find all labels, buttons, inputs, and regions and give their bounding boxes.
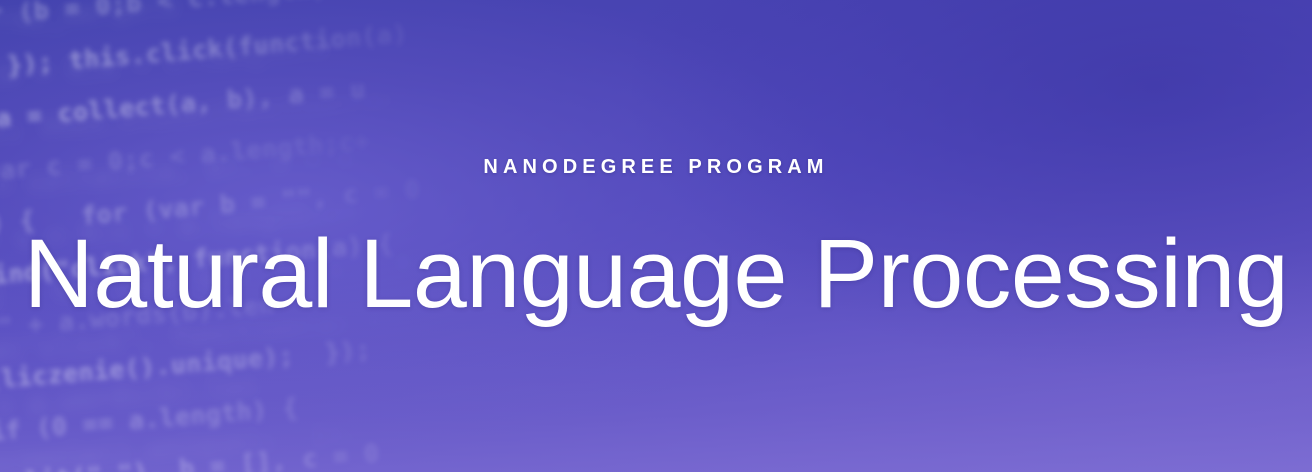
- hero-content: NANODEGREE PROGRAM Natural Language Proc…: [0, 0, 1312, 472]
- page-title: Natural Language Processing: [24, 225, 1289, 322]
- nanodegree-hero-banner: ); c = array_merge(a "", for (b = 0;b < …: [0, 0, 1312, 472]
- program-type-eyebrow: NANODEGREE PROGRAM: [483, 157, 828, 177]
